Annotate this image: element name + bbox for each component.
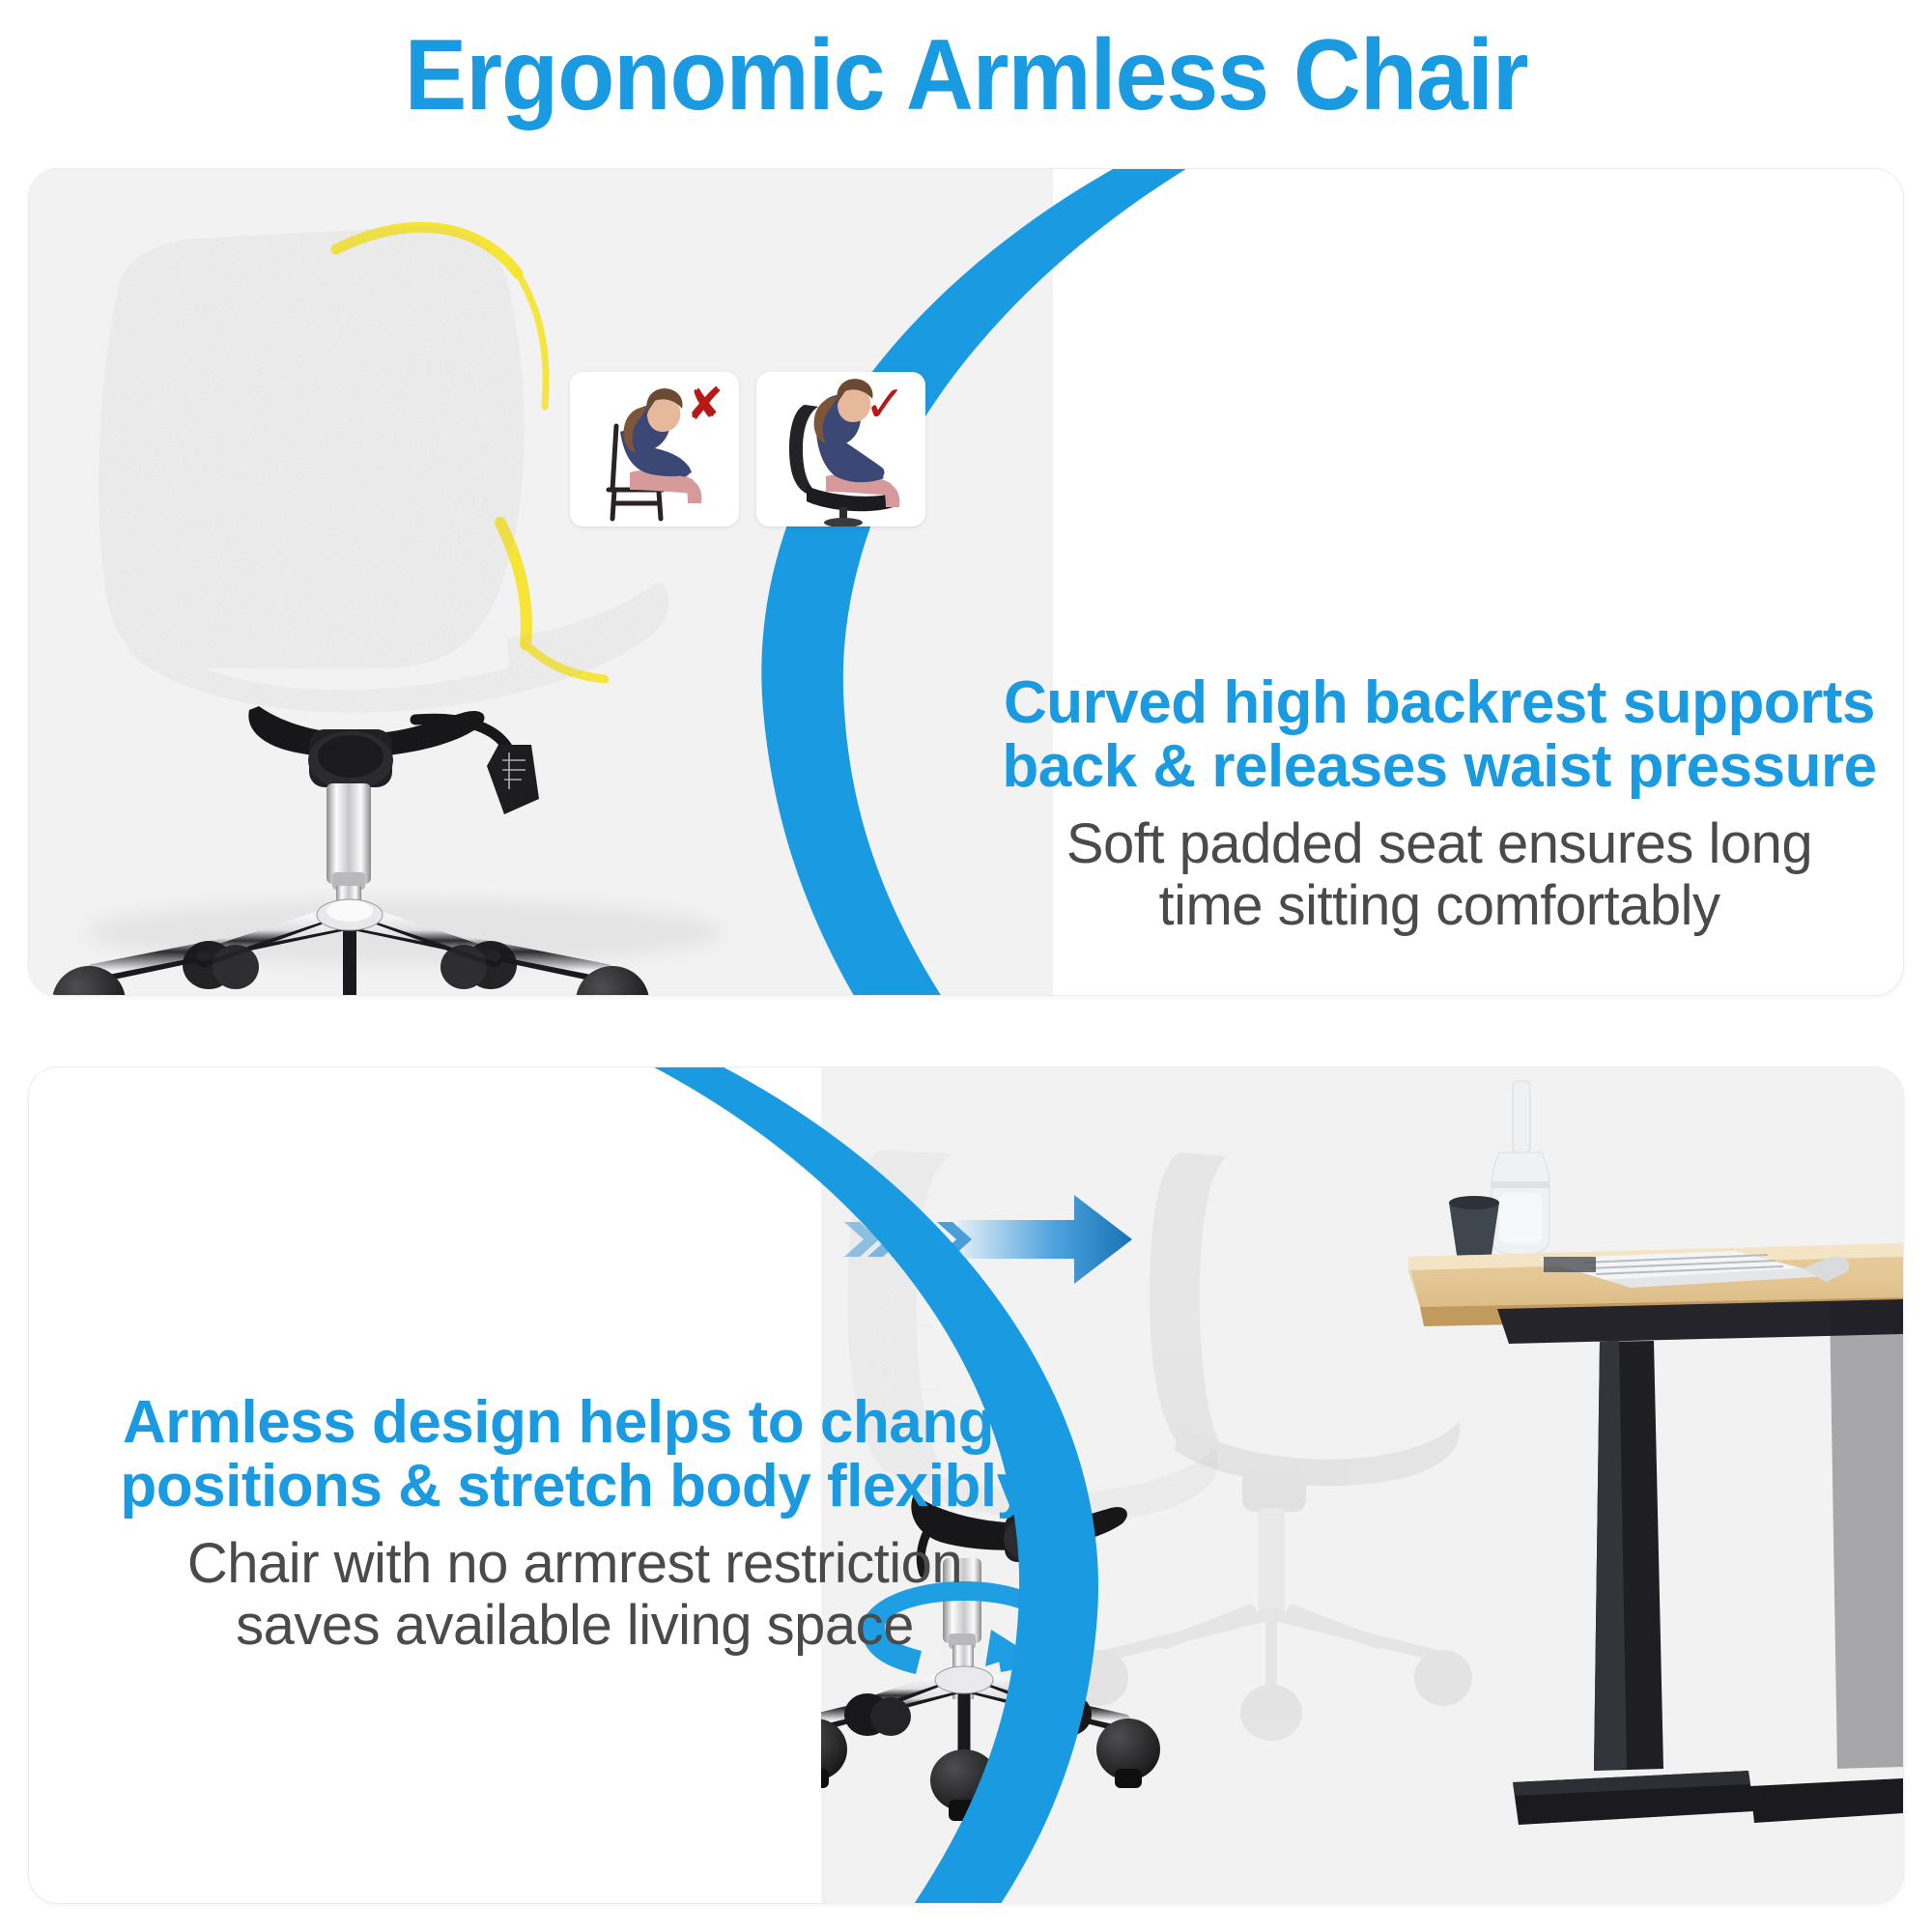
bottom-subline: Chair with no armrest restriction saves … — [97, 1533, 1053, 1657]
page-title: Ergonomic Armless Chair — [405, 25, 1528, 126]
top-headline: Curved high backrest supports back & rel… — [985, 671, 1893, 798]
feature-panel-backrest: ✘ — [29, 169, 1903, 995]
bottom-text-block: Armless design helps to change positions… — [97, 1391, 1053, 1657]
posture-comparison-cards: ✘ — [570, 372, 925, 526]
top-subline: Soft padded seat ensures long time sitti… — [985, 813, 1893, 937]
posture-card-incorrect: ✘ — [570, 372, 739, 526]
feature-panel-armless: Armless design helps to change positions… — [29, 1067, 1903, 1903]
title-bar: Ergonomic Armless Chair — [0, 17, 1932, 133]
infographic-page: Ergonomic Armless Chair — [0, 0, 1932, 1932]
posture-card-correct: ✓ — [756, 372, 925, 526]
cross-icon: ✘ — [686, 382, 724, 426]
check-icon: ✓ — [864, 380, 906, 430]
bottom-headline: Armless design helps to change positions… — [97, 1391, 1053, 1518]
top-text-block: Curved high backrest supports back & rel… — [985, 671, 1893, 937]
